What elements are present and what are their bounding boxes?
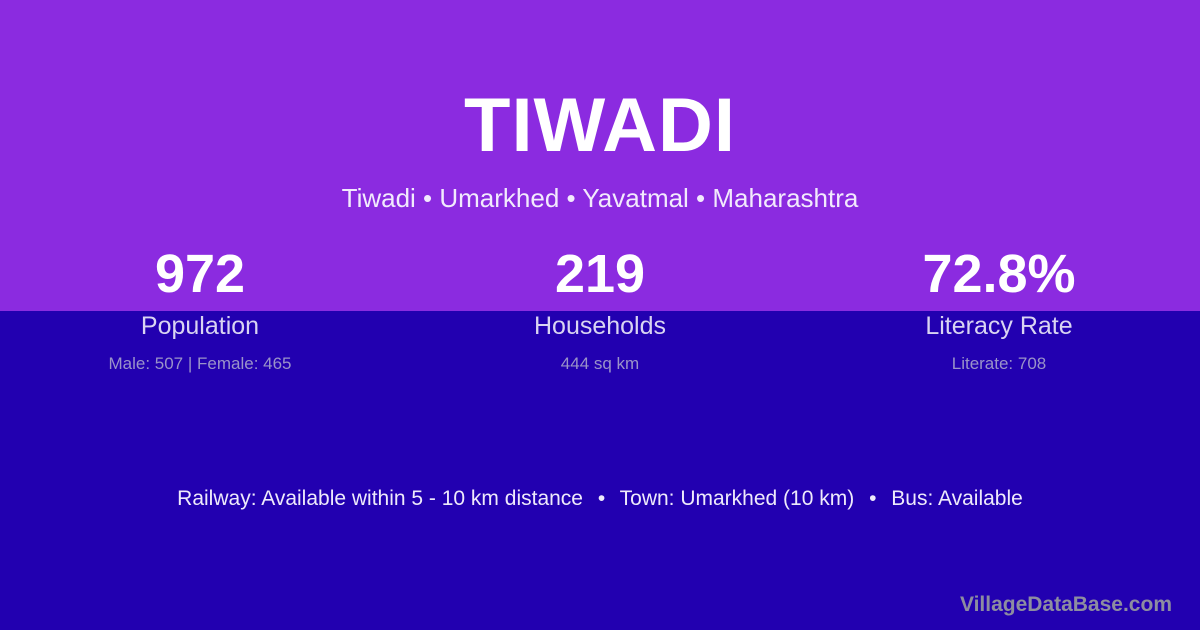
stat-label: Literacy Rate bbox=[799, 305, 1199, 341]
stat-label: Population bbox=[0, 305, 400, 341]
amenities-line: Railway: Available within 5 - 10 km dist… bbox=[0, 484, 1200, 514]
amenity-railway: Railway: Available within 5 - 10 km dist… bbox=[177, 487, 583, 510]
stat-literacy-rate: 72.8% Literacy Rate Literate: 708 bbox=[800, 243, 1200, 375]
stat-sublabel: Literate: 708 bbox=[799, 341, 1199, 375]
bullet-separator-icon: • bbox=[860, 487, 885, 510]
stat-households: 219 Households 444 sq km bbox=[400, 243, 800, 375]
stat-value: 972 bbox=[0, 243, 400, 305]
amenity-bus: Bus: Available bbox=[891, 487, 1023, 510]
stat-value: 72.8% bbox=[799, 243, 1199, 305]
stat-sublabel: Male: 507 | Female: 465 bbox=[0, 341, 400, 375]
card-header: TIWADI Tiwadi • Umarkhed • Yavatmal • Ma… bbox=[0, 0, 1200, 214]
bullet-separator-icon: • bbox=[589, 487, 614, 510]
stat-population: 972 Population Male: 507 | Female: 465 bbox=[0, 243, 400, 375]
stat-value: 219 bbox=[400, 243, 800, 305]
breadcrumb: Tiwadi • Umarkhed • Yavatmal • Maharasht… bbox=[0, 170, 1200, 214]
stat-label: Households bbox=[400, 305, 800, 341]
stat-sublabel: 444 sq km bbox=[400, 341, 800, 375]
amenity-town: Town: Umarkhed (10 km) bbox=[620, 487, 855, 510]
village-info-card: TIWADI Tiwadi • Umarkhed • Yavatmal • Ma… bbox=[0, 0, 1200, 630]
site-brand: VillageDataBase.com bbox=[960, 592, 1172, 618]
page-title: TIWADI bbox=[0, 0, 1200, 170]
stats-row: 972 Population Male: 507 | Female: 465 2… bbox=[0, 243, 1200, 375]
